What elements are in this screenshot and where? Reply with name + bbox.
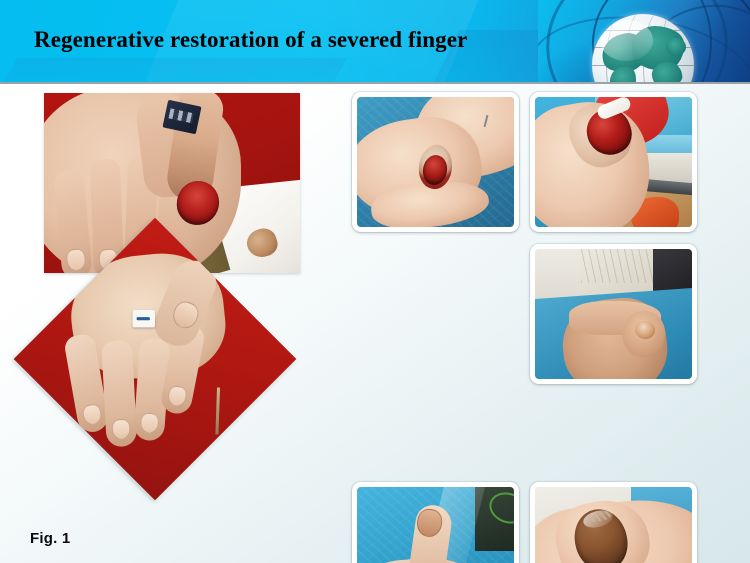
globe-landmass — [666, 38, 686, 56]
header-wedge-decoration — [0, 58, 347, 82]
photo-healing-thumb-closeup — [530, 482, 697, 563]
page-title: Regenerative restoration of a severed fi… — [34, 27, 467, 53]
figure-panel: Fig. 1 — [0, 84, 750, 563]
globe-icon — [538, 0, 750, 82]
photo-open-palm-raw-stump — [352, 92, 519, 232]
photo-restored-thumb-with-nail — [352, 482, 519, 563]
photo-closed-fist-blue-mat — [530, 244, 697, 384]
slide-root: Regenerative restoration of a severed fi… — [0, 0, 750, 563]
photo-bloody-thumb-poolside — [530, 92, 697, 232]
header-banner: Regenerative restoration of a severed fi… — [0, 0, 750, 82]
globe-highlight — [600, 20, 653, 61]
figure-label: Fig. 1 — [30, 530, 70, 547]
